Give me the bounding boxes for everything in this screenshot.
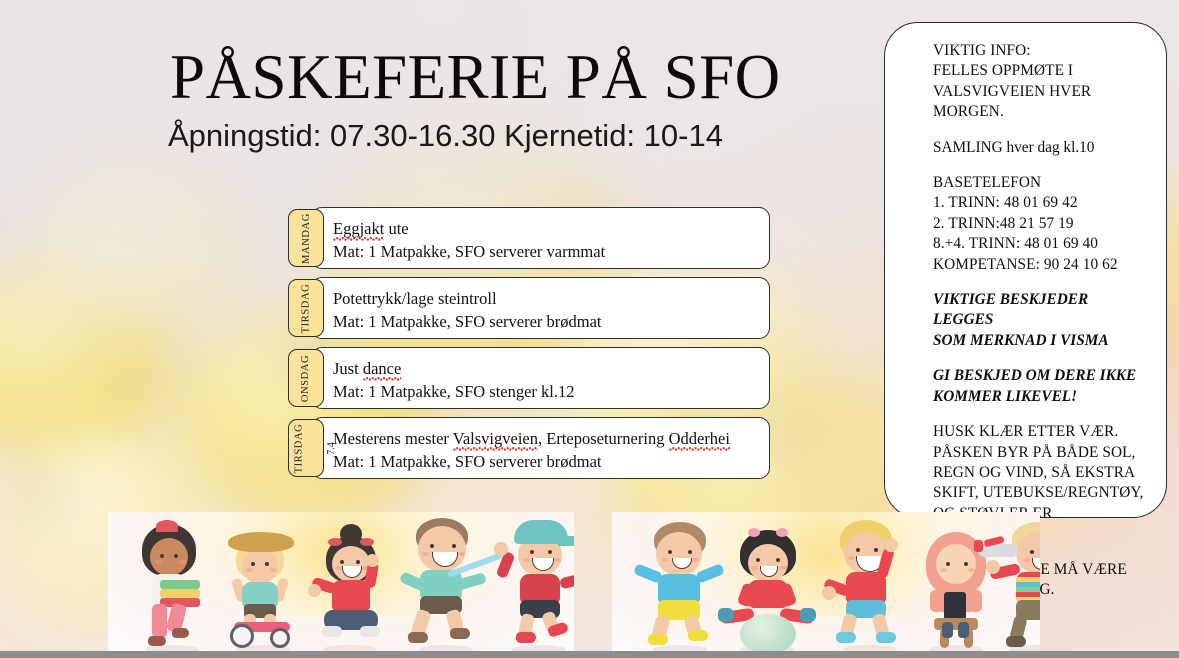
activity-text: Potettrykk/lage steintroll — [333, 287, 763, 310]
food-text: Mat: 1 Matpakke, SFO serverer brødmat — [333, 450, 763, 473]
day-tab-tirsdag: TIRSDAG — [288, 279, 324, 337]
spellcheck-word: Valsvigveien — [453, 429, 538, 451]
kid-boy-with-cap-waving — [492, 520, 574, 650]
opening-hours-subtitle: Åpningstid: 07.30-16.30 Kjernetid: 10-14 — [168, 118, 723, 154]
day-label: TIRSDAG — [294, 423, 305, 473]
kid-boy-in-red-cheering — [822, 520, 918, 650]
day-date: 7.4 — [326, 442, 337, 455]
kid-girl-on-exercise-ball — [718, 526, 816, 650]
spellcheck-word: Odderhei — [669, 429, 730, 451]
schedule-card: Mesterens mester Valsvigveien, Erteposet… — [311, 417, 770, 479]
activity-text: Eggjakt ute — [333, 217, 763, 240]
day-label: MANDAG — [301, 213, 312, 264]
day-tab-tirsdag-74: TIRSDAG 7.4 — [288, 419, 324, 477]
schedule-card: Potettrykk/lage steintroll Mat: 1 Matpak… — [311, 277, 770, 339]
clipart-strip-left — [108, 512, 574, 658]
kid-girl-with-books — [132, 524, 212, 650]
schedule-list: Eggjakt ute Mat: 1 Matpakke, SFO servere… — [288, 207, 770, 487]
info-block-viktig: VIKTIG INFO: FELLES OPPMØTE I VALSVIGVEI… — [933, 41, 1150, 123]
kid-boy-with-toy-airplane — [990, 522, 1040, 650]
bottom-bar — [0, 651, 1179, 658]
day-label: ONSDAG — [301, 354, 312, 401]
day-tab-onsdag: ONSDAG — [288, 349, 324, 407]
toy-airplane-icon — [978, 544, 1018, 557]
kid-boy-jumping-green-shirt — [398, 518, 494, 650]
schedule-row: Potettrykk/lage steintroll Mat: 1 Matpak… — [288, 277, 770, 339]
kid-boy-jumping-blue-shirt — [634, 522, 726, 650]
page-title: PÅSKEFERIE PÅ SFO — [170, 44, 781, 110]
spellcheck-word: dance — [363, 359, 401, 381]
schedule-row: Just dance Mat: 1 Matpakke, SFO stenger … — [288, 347, 770, 409]
schedule-row: Mesterens mester Valsvigveien, Erteposet… — [288, 417, 770, 479]
food-text: Mat: 1 Matpakke, SFO stenger kl.12 — [333, 380, 763, 403]
schedule-row: Eggjakt ute Mat: 1 Matpakke, SFO servere… — [288, 207, 770, 269]
food-text: Mat: 1 Matpakke, SFO serverer varmmat — [333, 240, 763, 263]
important-info-box: VIKTIG INFO: FELLES OPPMØTE I VALSVIGVEI… — [884, 22, 1167, 518]
poster-canvas: PÅSKEFERIE PÅ SFO Åpningstid: 07.30-16.3… — [0, 0, 1179, 658]
info-block-beskjed: GI BESKJED OM DERE IKKE KOMMER LIKEVEL! — [933, 366, 1150, 407]
activity-text: Just dance — [333, 357, 763, 380]
info-block-samling: SAMLING hver dag kl.10 — [933, 138, 1150, 158]
day-label: TIRSDAG — [301, 283, 312, 333]
info-block-basetelefon: BASETELEFON 1. TRINN: 48 01 69 42 2. TRI… — [933, 173, 1150, 275]
activity-text: Mesterens mester Valsvigveien, Erteposet… — [333, 427, 763, 450]
info-block-visma: VIKTIGE BESKJEDER LEGGES SOM MERKNAD I V… — [933, 290, 1150, 351]
clipart-strip-right — [612, 512, 1040, 658]
kid-girl-on-tricycle — [220, 530, 306, 650]
schedule-card: Just dance Mat: 1 Matpakke, SFO stenger … — [311, 347, 770, 409]
kid-girl-in-red-cheering — [304, 524, 396, 650]
food-text: Mat: 1 Matpakke, SFO serverer brødmat — [333, 310, 763, 333]
schedule-card: Eggjakt ute Mat: 1 Matpakke, SFO servere… — [311, 207, 770, 269]
spellcheck-word: Eggjakt — [333, 219, 384, 241]
day-tab-mandag: MANDAG — [288, 209, 324, 267]
